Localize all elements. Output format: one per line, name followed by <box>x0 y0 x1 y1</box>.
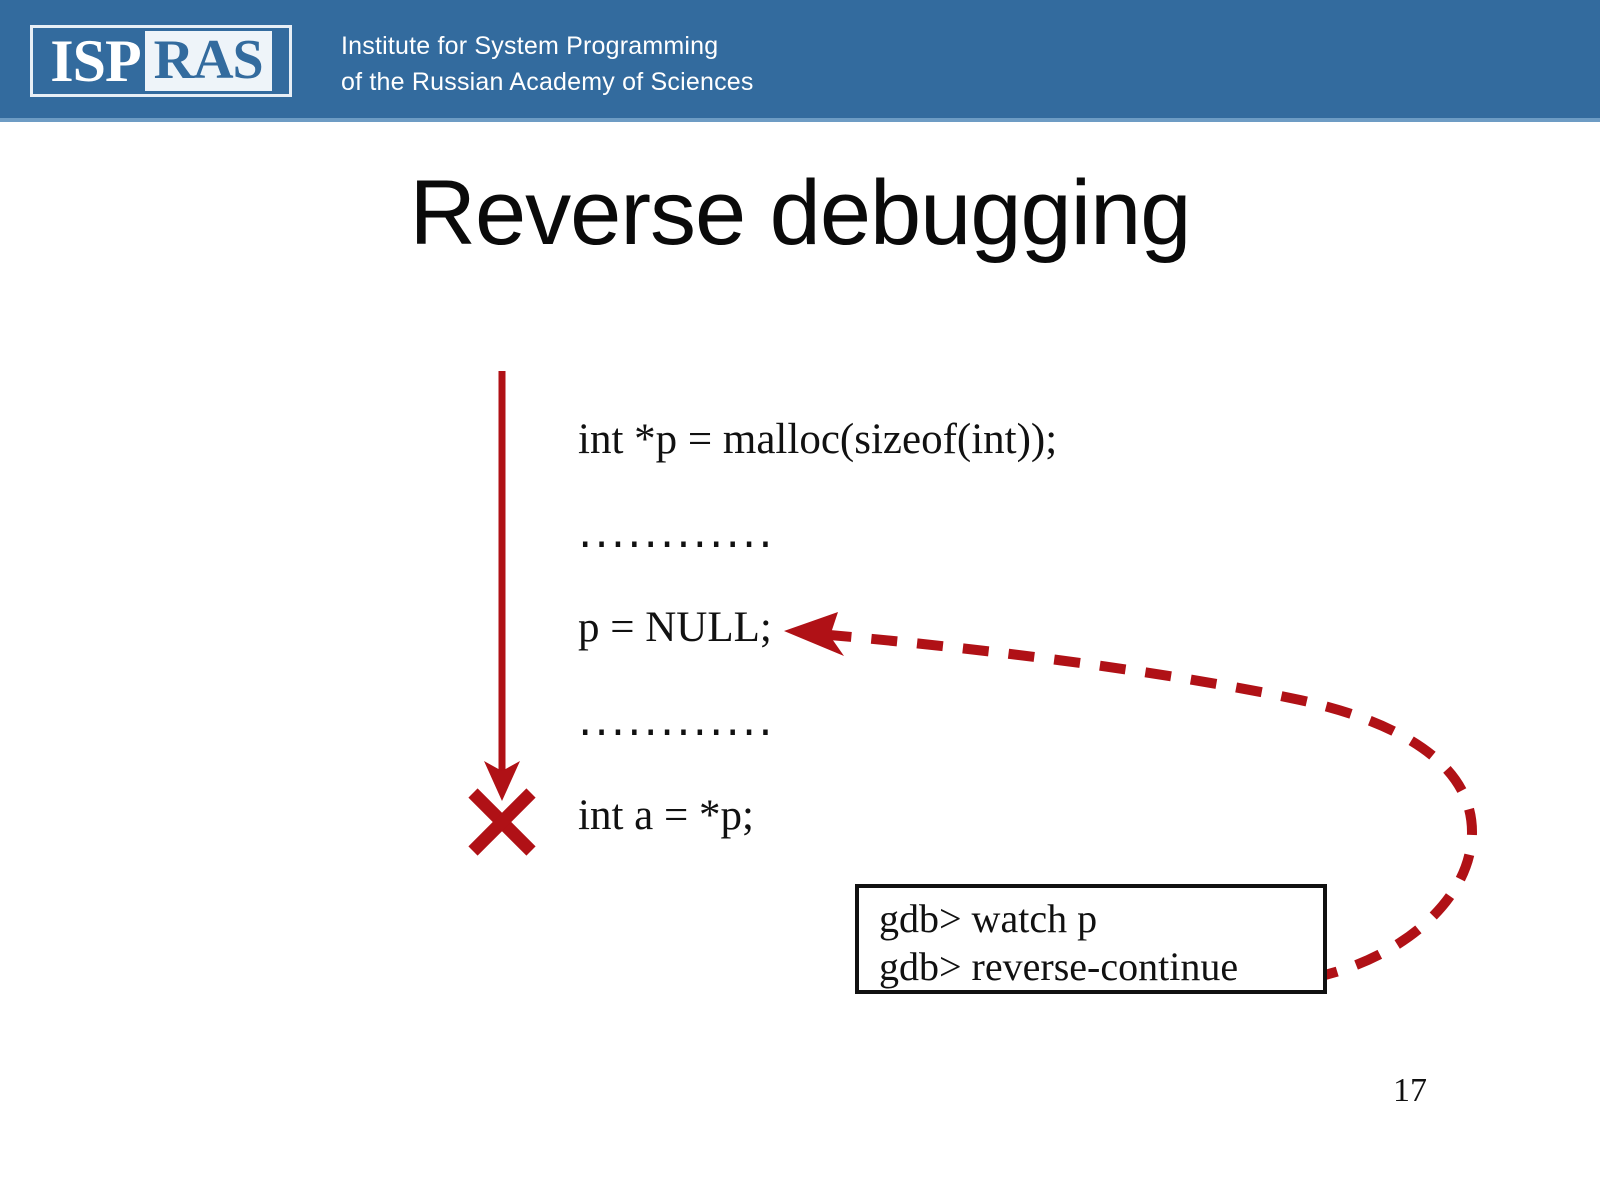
page-number: 17 <box>1380 1072 1440 1110</box>
organization-line-1: Institute for System Programming <box>341 28 754 64</box>
organization-line-2: of the Russian Academy of Sciences <box>341 64 754 100</box>
slide-header-band: ISP RAS Institute for System Programming… <box>0 0 1600 122</box>
logo-ras-box: RAS <box>145 31 272 91</box>
organization-name: Institute for System Programming of the … <box>341 28 754 100</box>
ispras-logo: ISP RAS <box>30 25 292 97</box>
page-title: Reverse debugging <box>0 158 1600 268</box>
forward-execution-arrow <box>470 365 540 805</box>
logo-ras-text: RAS <box>154 29 263 91</box>
gdb-command-watch: gdb> watch p <box>879 895 1323 943</box>
crash-x-marker <box>462 782 542 862</box>
code-line-ellipsis-1: ․․․․․․․․․․․․ <box>578 508 1057 602</box>
logo-isp-text: ISP <box>50 31 144 91</box>
gdb-command-box: gdb> watch p gdb> reverse-continue <box>855 884 1327 994</box>
code-line-malloc: int *p = malloc(sizeof(int)); <box>578 414 1057 508</box>
gdb-command-reverse-continue: gdb> reverse-continue <box>879 943 1323 991</box>
